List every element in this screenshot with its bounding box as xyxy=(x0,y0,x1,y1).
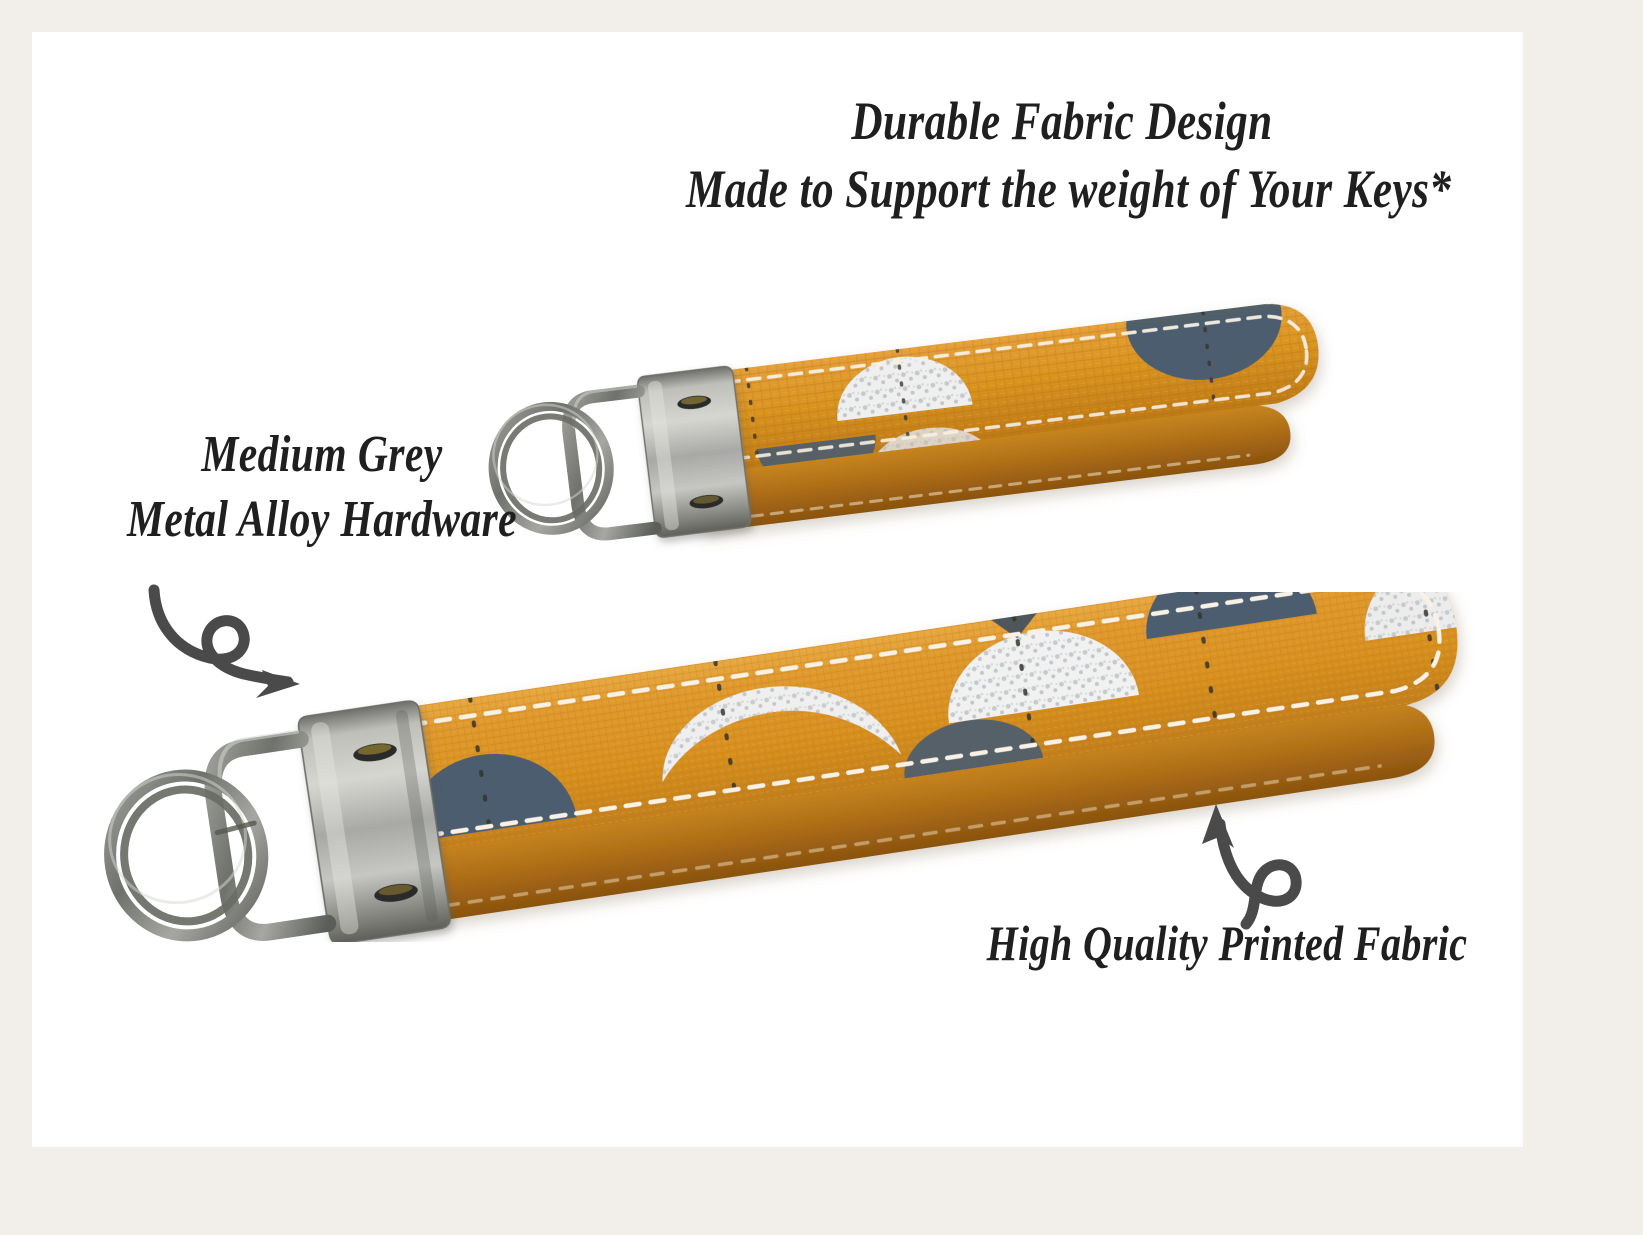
keychain-top xyxy=(487,297,1387,562)
keychain-top-graphic xyxy=(487,297,1387,557)
product-infographic: Durable Fabric Design Made to Support th… xyxy=(0,0,1643,1235)
durable-line-1: Durable Fabric Design xyxy=(686,88,1438,156)
printed-fabric-callout: High Quality Printed Fabric xyxy=(912,912,1523,975)
split-ring-bottom xyxy=(102,763,273,942)
strap-top xyxy=(673,297,1332,533)
durable-line-2: Made to Support the weight of Your Keys* xyxy=(686,156,1438,224)
infographic-canvas: Durable Fabric Design Made to Support th… xyxy=(32,32,1523,1147)
hardware-line-2: Metal Alloy Hardware xyxy=(98,487,546,552)
clamp-top xyxy=(637,366,752,538)
metal-hardware-callout: Medium Grey Metal Alloy Hardware xyxy=(42,422,602,552)
fabric-line-1: High Quality Printed Fabric xyxy=(975,912,1479,975)
hardware-line-1: Medium Grey xyxy=(98,422,546,487)
curly-arrow-right xyxy=(1162,792,1322,932)
strap-bottom xyxy=(347,592,1522,929)
durable-fabric-callout: Durable Fabric Design Made to Support th… xyxy=(592,88,1523,223)
curly-arrow-left xyxy=(132,572,312,702)
